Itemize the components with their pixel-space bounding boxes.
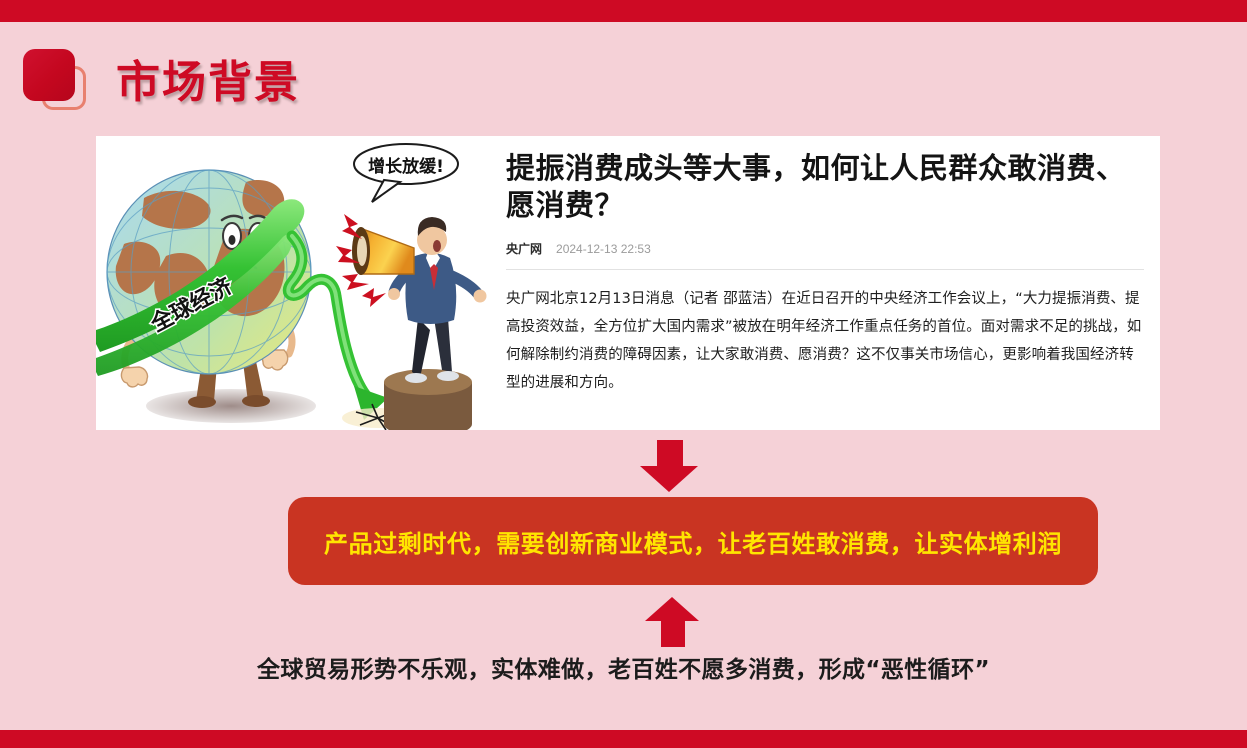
cartoon-illustration-svg: 全球经济 bbox=[96, 136, 494, 430]
slide-heading: 市场背景 bbox=[20, 46, 300, 120]
news-text-column: 提振消费成头等大事，如何让人民群众敢消费、愿消费？ 央广网 2024-12-13… bbox=[494, 136, 1160, 430]
top-accent-bar bbox=[0, 0, 1247, 22]
bottom-accent-bar bbox=[0, 730, 1247, 748]
up-arrow-icon bbox=[645, 597, 699, 647]
news-meta: 央广网 2024-12-13 22:53 bbox=[506, 240, 1144, 270]
bottom-caption: 全球贸易形势不乐观，实体难做，老百姓不愿多消费，形成“恶性循环” bbox=[0, 650, 1247, 684]
up-arrow-head bbox=[645, 597, 699, 621]
stacked-squares-icon bbox=[20, 46, 98, 120]
news-headline: 提振消费成头等大事，如何让人民群众敢消费、愿消费？ bbox=[506, 150, 1144, 224]
highlight-callout-box: 产品过剩时代，需要创新商业模式，让老百姓敢消费，让实体增利润 bbox=[288, 497, 1098, 585]
down-arrow-icon bbox=[640, 440, 698, 492]
icon-solid-square bbox=[23, 49, 75, 101]
news-timestamp: 2024-12-13 22:53 bbox=[556, 242, 651, 256]
news-article-card: 全球经济 bbox=[96, 136, 1160, 430]
highlight-text: 产品过剩时代，需要创新商业模式，让老百姓敢消费，让实体增利润 bbox=[324, 524, 1062, 559]
global-economy-slowdown-cartoon: 全球经济 bbox=[96, 136, 494, 430]
up-arrow-stem bbox=[661, 619, 685, 647]
down-arrow-stem bbox=[657, 440, 683, 468]
page-title: 市场背景 bbox=[116, 61, 300, 105]
news-source: 央广网 bbox=[506, 240, 542, 257]
down-arrow-head bbox=[640, 466, 698, 492]
slide-canvas: 市场背景 bbox=[0, 0, 1247, 748]
speech-bubble-label: 增长放缓! bbox=[368, 156, 444, 177]
news-paragraph: 央广网北京12月13日消息（记者 邵蓝洁）在近日召开的中央经济工作会议上，“大力… bbox=[506, 285, 1144, 398]
